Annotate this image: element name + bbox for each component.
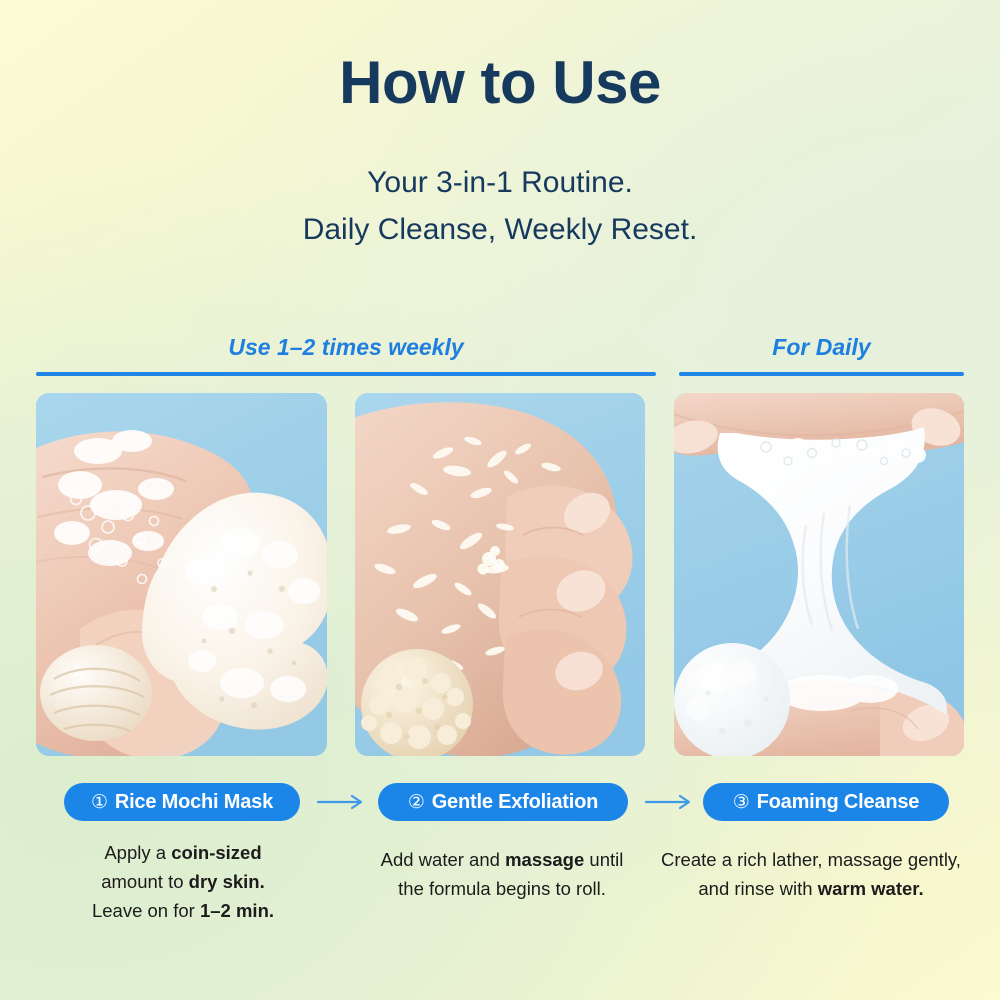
step-1-caption-line-1: Apply a coin-sized bbox=[50, 838, 316, 867]
subtitle-line-1: Your 3-in-1 Routine. bbox=[0, 160, 1000, 207]
step-2-caption: Add water and massage until the formula … bbox=[352, 845, 652, 903]
step-2-pill[interactable]: ② Gentle Exfoliation bbox=[378, 783, 628, 821]
how-to-use-infographic: How to Use Your 3-in-1 Routine. Daily Cl… bbox=[0, 0, 1000, 1000]
step-3-pill[interactable]: ③ Foaming Cleanse bbox=[703, 783, 949, 821]
step-2-label: Gentle Exfoliation bbox=[432, 791, 598, 814]
step-1-caption-line-2-bold: dry skin. bbox=[189, 871, 265, 892]
step-2-caption-line-1-bold: massage bbox=[505, 849, 584, 870]
step-1-caption-line-3: Leave on for 1–2 min. bbox=[50, 896, 316, 925]
step-2-caption-line-1: Add water and massage until bbox=[352, 845, 652, 874]
section-label-weekly: Use 1–2 times weekly bbox=[36, 334, 656, 361]
section-rule-weekly bbox=[36, 372, 656, 376]
step-3-photo bbox=[674, 393, 964, 756]
step-2-photo bbox=[355, 393, 645, 756]
step-3-caption-line-2-pre: and rinse with bbox=[698, 878, 817, 899]
step-3-caption: Create a rich lather, massage gently, an… bbox=[651, 845, 971, 903]
step-2-caption-line-1-post: until bbox=[584, 849, 623, 870]
step-2-caption-line-1-pre: Add water and bbox=[381, 849, 505, 870]
step-2-caption-line-2: the formula begins to roll. bbox=[352, 874, 652, 903]
step-3-caption-line-1: Create a rich lather, massage gently, bbox=[651, 845, 971, 874]
step-3-caption-line-2: and rinse with warm water. bbox=[651, 874, 971, 903]
arrow-step1-to-step2-icon bbox=[316, 793, 366, 811]
step-1-caption: Apply a coin-sized amount to dry skin. L… bbox=[50, 838, 316, 926]
step-1-number: ① bbox=[91, 791, 108, 814]
step-3-label: Foaming Cleanse bbox=[757, 791, 920, 814]
step-1-pill[interactable]: ① Rice Mochi Mask bbox=[64, 783, 300, 821]
step-1-caption-line-1-bold: coin-sized bbox=[171, 842, 261, 863]
step-1-caption-line-3-pre: Leave on for bbox=[92, 900, 200, 921]
step-1-photo bbox=[36, 393, 327, 756]
step-1-caption-line-2-pre: amount to bbox=[101, 871, 188, 892]
step-1-label: Rice Mochi Mask bbox=[115, 791, 273, 814]
step-1-caption-line-3-bold: 1–2 min. bbox=[200, 900, 274, 921]
page-subtitle: Your 3-in-1 Routine. Daily Cleanse, Week… bbox=[0, 160, 1000, 253]
arrow-step2-to-step3-icon bbox=[644, 793, 694, 811]
subtitle-line-2: Daily Cleanse, Weekly Reset. bbox=[0, 207, 1000, 254]
step-3-number: ③ bbox=[733, 791, 750, 814]
step-1-caption-line-1-pre: Apply a bbox=[104, 842, 171, 863]
page-title: How to Use bbox=[0, 48, 1000, 117]
step-3-caption-line-2-bold: warm water. bbox=[818, 878, 924, 899]
step-1-caption-line-2: amount to dry skin. bbox=[50, 867, 316, 896]
step-2-number: ② bbox=[408, 791, 425, 814]
section-label-daily: For Daily bbox=[679, 334, 964, 361]
section-rule-daily bbox=[679, 372, 964, 376]
